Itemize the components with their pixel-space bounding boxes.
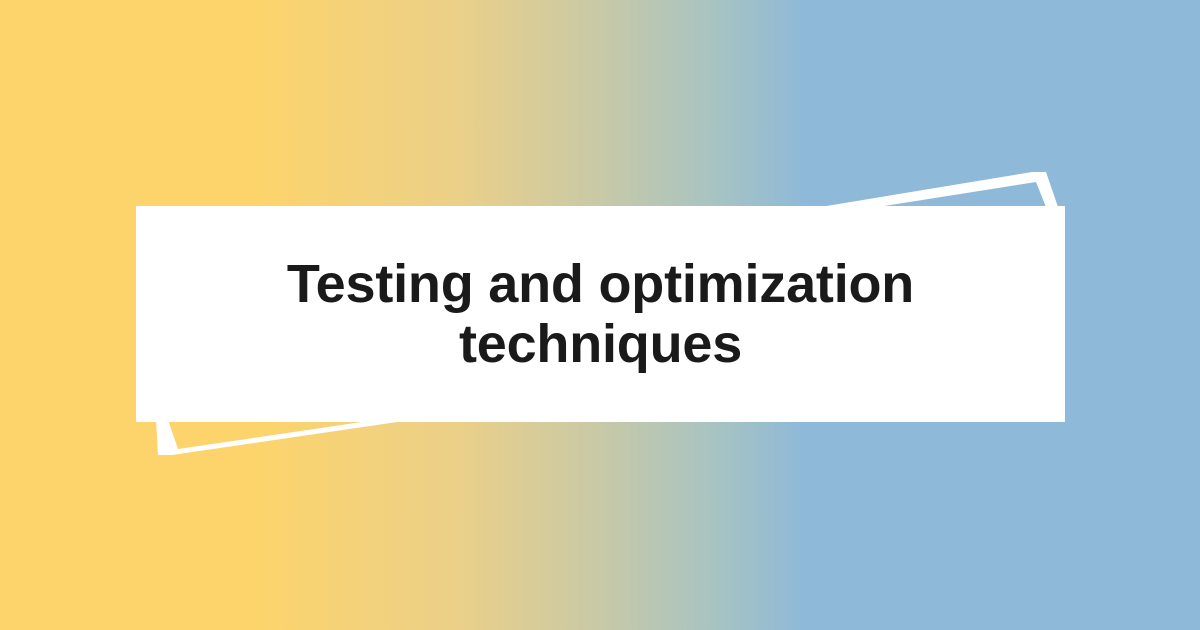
title-card: Testing and optimization techniques xyxy=(136,206,1065,422)
page-title: Testing and optimization techniques xyxy=(281,254,921,375)
social-card-canvas: Testing and optimization techniques xyxy=(0,0,1200,630)
